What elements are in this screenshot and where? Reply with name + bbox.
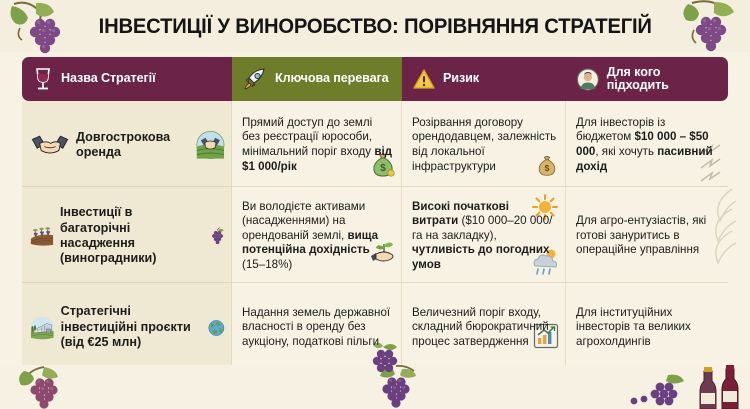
table-header-row: Назва Стратегії Ключова перевага xyxy=(22,57,728,101)
title-bar: ІНВЕСТИЦІЇ У ВИНОРОБСТВО: ПОРІВНЯННЯ СТР… xyxy=(0,0,750,52)
grapes-bunch-icon xyxy=(14,365,114,409)
strategy-name-label: Інвестиції в багаторічні насадження (вин… xyxy=(60,205,204,267)
wine-bottles-icon xyxy=(692,365,748,409)
table-row: Стратегічні інвестиційні проєкти (від €2… xyxy=(22,283,728,370)
advantage-cell: Ви володієте активами (насадженнями) на … xyxy=(232,187,402,282)
risk-text: Розірвання договору орендодавцем, залежн… xyxy=(412,116,557,174)
table-row: Довгострокова оренда Прямий доступ до зе… xyxy=(22,101,728,187)
strategy-name-label: Довгострокова оренда xyxy=(76,130,190,161)
grapes-bunch-icon xyxy=(670,0,744,56)
column-header-label: Ризик xyxy=(443,72,479,86)
handshake-field-icon xyxy=(196,127,225,163)
risk-text: Високі початкові витрати ($10 000–20 000… xyxy=(412,200,557,273)
wine-glass-icon xyxy=(32,66,54,92)
risk-cell: Величезний поріг входу, складний бюрокра… xyxy=(402,283,566,369)
column-header-risk: Ризик xyxy=(402,57,566,101)
column-header-label: Для кого підходить xyxy=(607,66,720,93)
warning-triangle-icon xyxy=(412,67,436,91)
advantage-text: Надання земель державної власності в оре… xyxy=(242,306,393,350)
column-header-label: Назва Стратегії xyxy=(61,72,156,86)
column-header-advantage: Ключова перевага xyxy=(232,57,402,101)
column-header-strategy: Назва Стратегії xyxy=(22,57,232,101)
advantage-cell: Прямий доступ до землі без реєстрації юр… xyxy=(232,101,402,186)
column-header-audience: Для кого підходить xyxy=(566,57,728,101)
comparison-table: Назва Стратегії Ключова перевага xyxy=(22,57,728,367)
grapes-bunch-icon xyxy=(628,369,698,409)
column-header-label: Ключова перевага xyxy=(275,72,389,86)
rocket-icon xyxy=(242,66,268,92)
risk-cell: Розірвання договору орендодавцем, залежн… xyxy=(402,101,566,186)
page-title: ІНВЕСТИЦІЇ У ВИНОРОБСТВО: ПОРІВНЯННЯ СТР… xyxy=(98,14,651,39)
advantage-cell: Надання земель державної власності в оре… xyxy=(232,283,402,369)
audience-cell: Для інституційних інвесторів та великих … xyxy=(566,283,728,369)
winery-building-icon xyxy=(30,304,55,352)
strategy-name-label: Стратегічні інвестиційні проєкти (від €2… xyxy=(61,304,203,350)
risk-text: Величезний поріг входу, складний бюрокра… xyxy=(412,306,557,350)
strategy-name-cell: Довгострокова оренда xyxy=(22,101,232,186)
table-row: Інвестиції в багаторічні насадження (вин… xyxy=(22,187,728,283)
handshake-icon xyxy=(30,125,70,165)
strategy-name-cell: Інвестиції в багаторічні насадження (вин… xyxy=(22,187,232,282)
grapes-bunch-icon xyxy=(6,0,80,56)
advantage-text: Ви володієте активами (насадженнями) на … xyxy=(242,200,393,273)
advantage-text: Прямий доступ до землі без реєстрації юр… xyxy=(242,116,393,174)
infographic-page: ІНВЕСТИЦІЇ У ВИНОРОБСТВО: ПОРІВНЯННЯ СТР… xyxy=(0,0,750,409)
grapes-icon xyxy=(210,215,225,257)
audience-text: Для інвесторів із бюджетом $10 000 – $50… xyxy=(576,116,720,174)
vineyard-icon xyxy=(30,212,54,260)
globe-icon xyxy=(208,311,225,345)
audience-text: Для інституційних інвесторів та великих … xyxy=(576,306,720,350)
strategy-name-cell: Стратегічні інвестиційні проєкти (від €2… xyxy=(22,283,232,369)
risk-cell: Високі початкові витрати ($10 000–20 000… xyxy=(402,187,566,282)
audience-cell: Для інвесторів із бюджетом $10 000 – $50… xyxy=(566,101,728,186)
audience-text: Для агро-ентузіастів, які готові занурит… xyxy=(576,214,720,258)
person-icon xyxy=(576,67,600,92)
audience-cell: Для агро-ентузіастів, які готові занурит… xyxy=(566,187,728,282)
